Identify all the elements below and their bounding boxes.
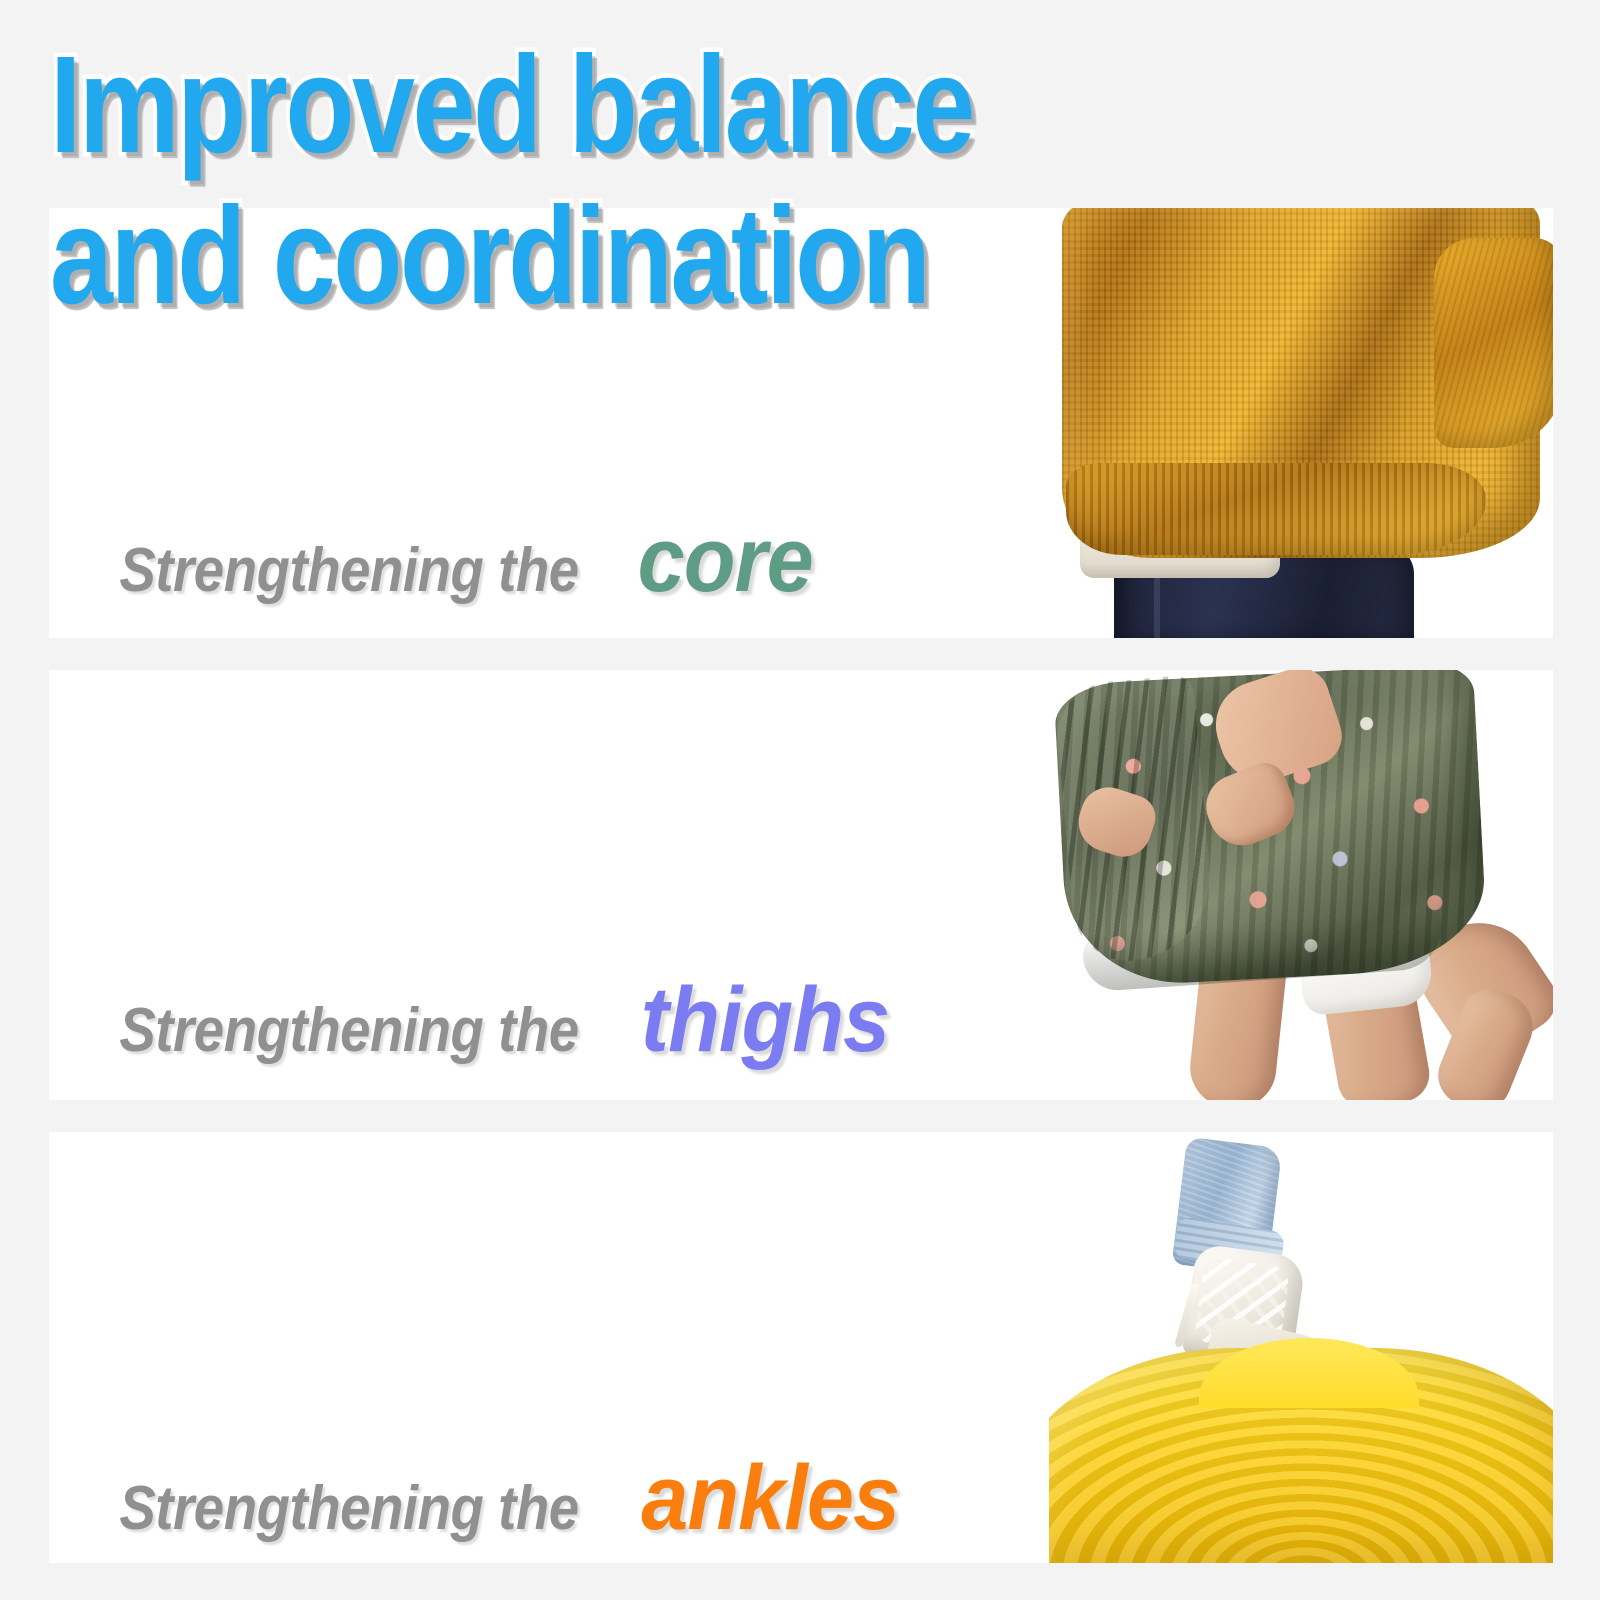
infographic-stage: Improved balance and coordination Streng… xyxy=(0,0,1600,1600)
photo-thighs xyxy=(1029,670,1553,1100)
caption-thighs-lead: Strengthening the xyxy=(119,995,578,1066)
core-sleeve-shape xyxy=(1434,238,1553,448)
photo-core xyxy=(1004,208,1553,638)
caption-ankles-focus: ankles xyxy=(641,1446,899,1551)
photo-ankles xyxy=(1049,1132,1553,1563)
caption-core: Strengthening the core xyxy=(88,508,820,613)
caption-ankles: Strengthening the ankles xyxy=(88,1446,910,1551)
caption-core-focus: core xyxy=(638,508,813,613)
caption-thighs-focus: thighs xyxy=(641,968,889,1073)
caption-core-lead: Strengthening the xyxy=(119,535,578,606)
headline-line-1: Improved balance xyxy=(50,38,1075,173)
core-sweater-hem-shape xyxy=(1066,463,1486,555)
caption-ankles-lead: Strengthening the xyxy=(119,1473,578,1544)
caption-thighs: Strengthening the thighs xyxy=(88,968,900,1073)
